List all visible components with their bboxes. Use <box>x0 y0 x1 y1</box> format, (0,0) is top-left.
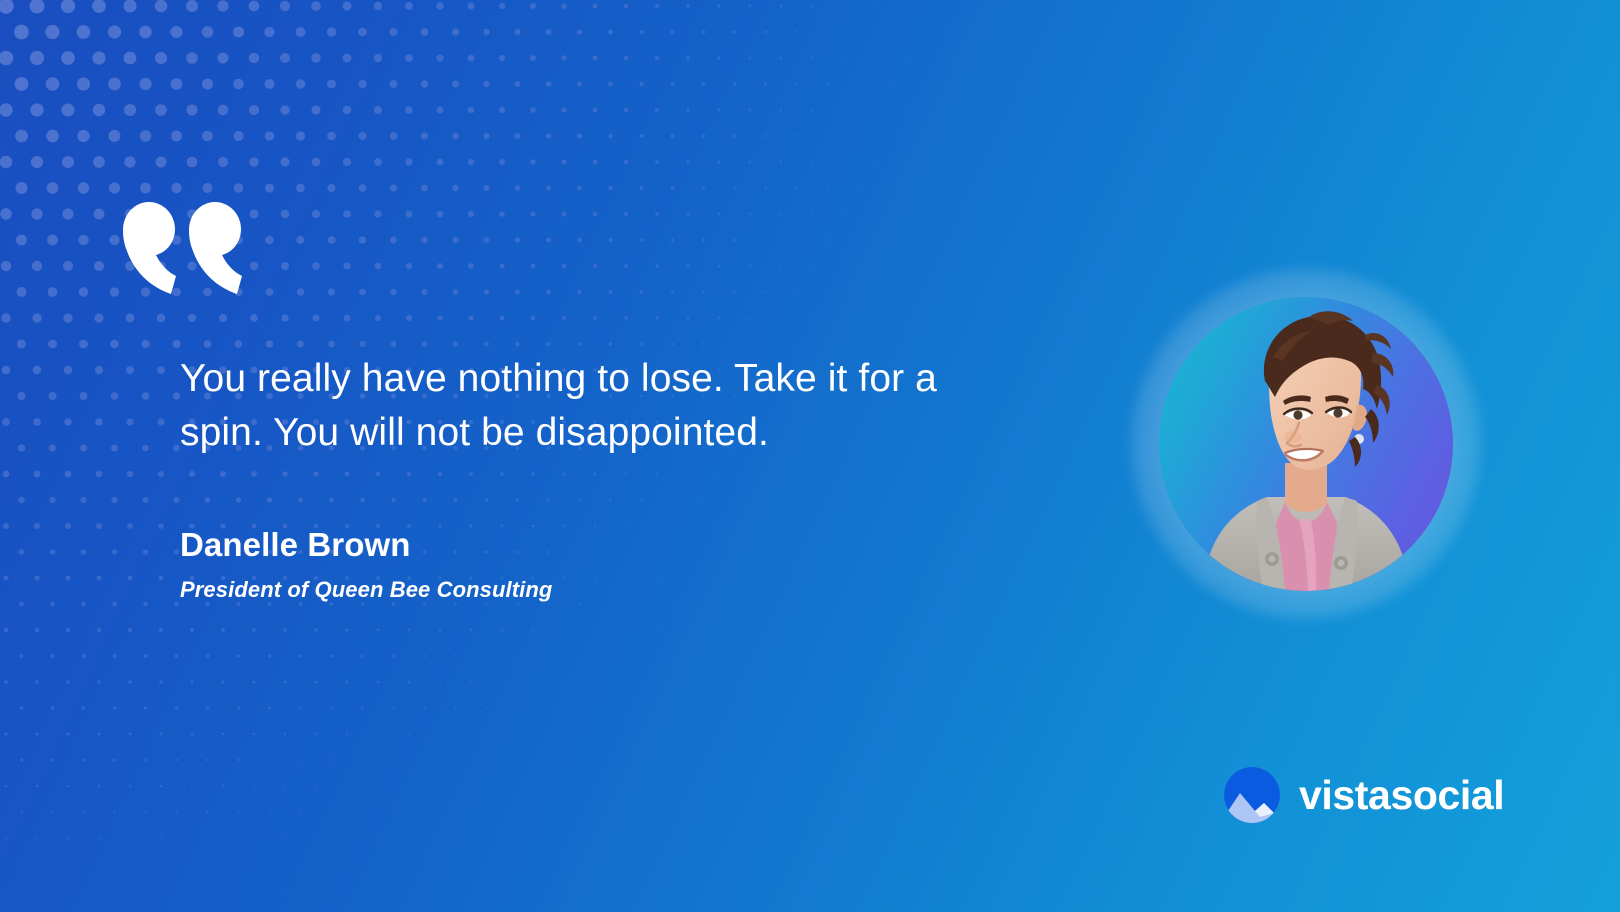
avatar-portrait <box>1159 297 1453 591</box>
author-name: Danelle Brown <box>180 523 880 567</box>
avatar <box>1159 297 1453 591</box>
double-quote-icon <box>122 202 244 294</box>
testimonial-card: You really have nothing to lose. Take it… <box>0 0 1620 912</box>
vistasocial-logo: vistasocial <box>1224 767 1504 823</box>
vistasocial-mountain-circle-icon <box>1224 767 1280 823</box>
vistasocial-wordmark: vistasocial <box>1299 775 1504 816</box>
testimonial-quote: You really have nothing to lose. Take it… <box>180 352 1020 460</box>
testimonial-attribution: Danelle Brown President of Queen Bee Con… <box>180 523 880 607</box>
author-role: President of Queen Bee Consulting <box>180 573 880 607</box>
